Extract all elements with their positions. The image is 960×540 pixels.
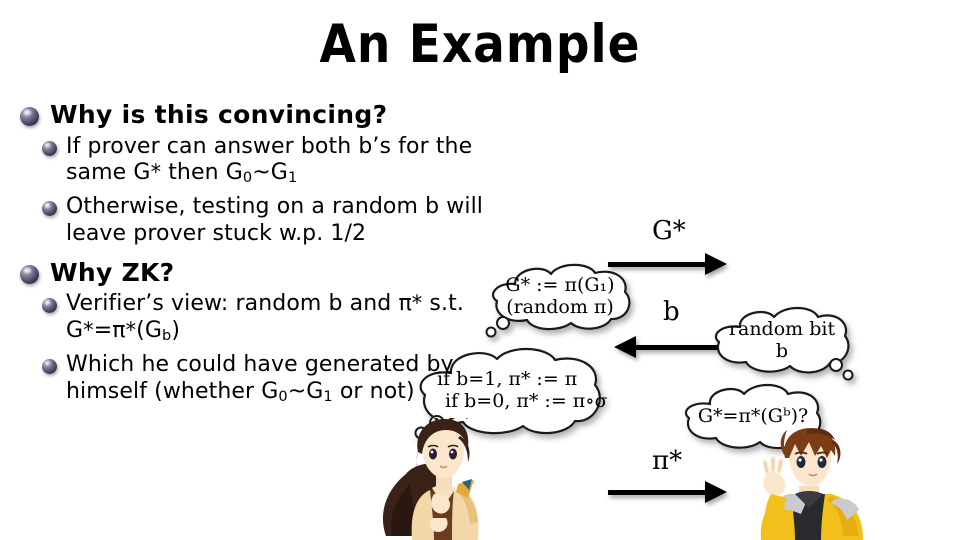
bullet-sphere-icon xyxy=(20,107,39,126)
bullet-text: Why is this convincing? xyxy=(50,100,387,130)
arrow-label-g-star: G* xyxy=(652,216,686,246)
slide-canvas: An Example Why is this convincing? If pr… xyxy=(0,0,960,540)
bullet-item-why-zk: Why ZK? xyxy=(20,258,500,288)
bullet-sphere-icon xyxy=(42,201,57,216)
bullet-sphere-icon xyxy=(42,141,57,156)
prover-character xyxy=(372,418,502,540)
protocol-diagram: G* b π* G* := π(G₁) (random π) xyxy=(430,190,960,540)
bullet-sphere-icon xyxy=(42,298,57,313)
verifier-character xyxy=(735,428,875,540)
prover-bubble-commit: G* := π(G₁) (random π) xyxy=(485,262,635,330)
bullet-item-both-bs: If prover can answer both b’s for thesam… xyxy=(42,134,500,189)
bullet-sphere-icon xyxy=(20,265,39,284)
bullet-sphere-icon xyxy=(42,359,57,374)
arrow-label-pi-star: π* xyxy=(652,446,682,476)
bullet-text: Why ZK? xyxy=(50,258,174,288)
bullet-text: Which he could have generated byhimself … xyxy=(66,352,454,407)
bullet-text: Verifier’s view: random b and π* s.t.G*=… xyxy=(66,291,464,346)
arrow-pi-star-line xyxy=(608,490,706,495)
verifier-bubble-challenge: random bit b xyxy=(712,305,852,375)
arrow-b-head-icon xyxy=(614,336,636,358)
bullet-text: Otherwise, testing on a random b willlea… xyxy=(66,194,483,248)
arrow-label-b: b xyxy=(663,297,680,327)
arrow-pi-star-head-icon xyxy=(705,481,727,503)
arrow-g-star-head-icon xyxy=(705,253,727,275)
bullet-text: If prover can answer both b’s for thesam… xyxy=(66,134,472,189)
bullet-item-why-convincing: Why is this convincing? xyxy=(20,100,500,130)
page-title: An Example xyxy=(0,14,960,76)
